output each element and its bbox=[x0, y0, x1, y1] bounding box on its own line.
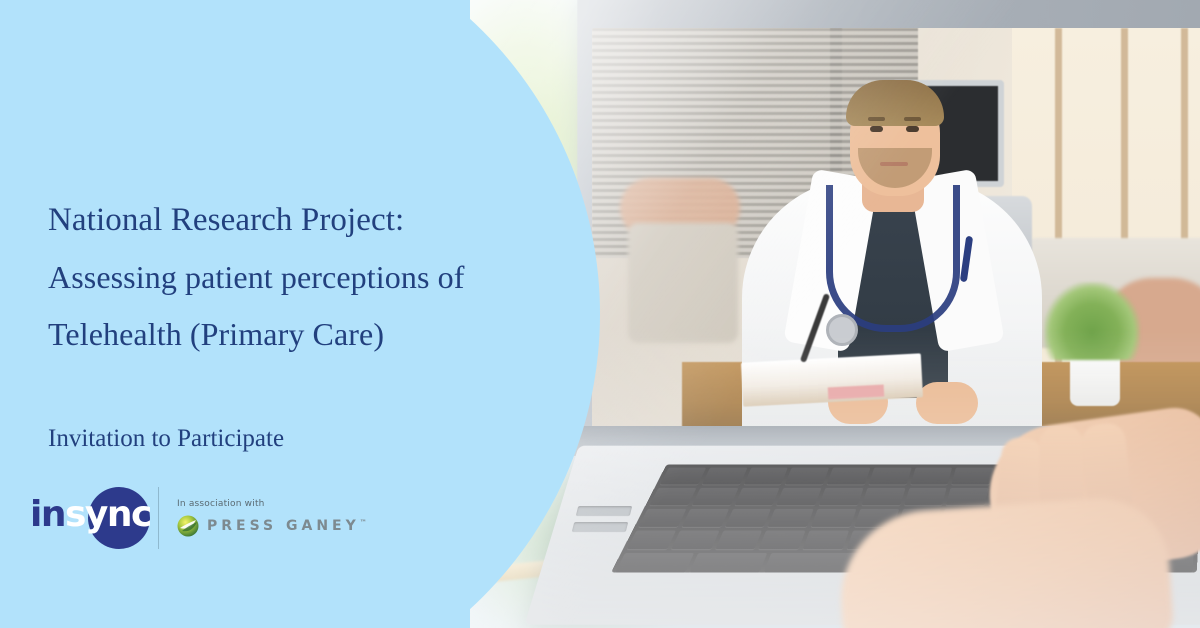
key bbox=[725, 509, 772, 527]
key bbox=[910, 468, 952, 485]
key bbox=[819, 488, 863, 505]
key bbox=[952, 468, 994, 485]
insync-word-sync: sync bbox=[65, 494, 151, 535]
press-ganey-logo: PRESS GANEY™ bbox=[177, 515, 367, 537]
key bbox=[768, 509, 814, 527]
banner-content: National Research Project: Assessing pat… bbox=[0, 0, 560, 628]
page-title: National Research Project: Assessing pat… bbox=[48, 192, 548, 363]
association-block: In association with bbox=[177, 499, 367, 537]
key bbox=[715, 531, 762, 550]
key bbox=[904, 488, 947, 505]
key bbox=[785, 468, 829, 485]
key bbox=[660, 468, 706, 485]
insync-logo: insync bbox=[28, 483, 150, 553]
key bbox=[827, 468, 871, 485]
headline-line-2: Assessing patient perceptions of bbox=[48, 249, 548, 306]
headline-line-3: Telehealth (Primary Care) bbox=[48, 306, 548, 363]
screen-glare bbox=[592, 28, 1200, 428]
key bbox=[682, 509, 729, 527]
press-ganey-trademark: ™ bbox=[360, 518, 367, 526]
key bbox=[868, 468, 911, 485]
key bbox=[759, 531, 806, 550]
key bbox=[734, 488, 780, 505]
laptop-screen bbox=[592, 28, 1200, 428]
key bbox=[946, 488, 989, 505]
port-audio bbox=[572, 522, 628, 532]
laptop-ports bbox=[570, 506, 632, 540]
press-ganey-name: PRESS GANEY bbox=[207, 518, 360, 534]
press-ganey-wordmark: PRESS GANEY™ bbox=[207, 518, 367, 534]
key bbox=[777, 488, 822, 505]
key bbox=[689, 553, 767, 572]
key bbox=[692, 488, 738, 505]
key bbox=[861, 488, 905, 505]
association-kicker: In association with bbox=[177, 499, 367, 509]
key bbox=[743, 468, 788, 485]
key bbox=[649, 488, 696, 505]
insync-word-in: in bbox=[30, 494, 65, 535]
port-usb bbox=[576, 506, 632, 516]
press-ganey-leaf-icon bbox=[177, 515, 199, 537]
headline-line-1: National Research Project: bbox=[48, 192, 548, 249]
key bbox=[615, 553, 694, 572]
key bbox=[638, 509, 686, 527]
key bbox=[803, 531, 849, 550]
invitation-subheading: Invitation to Participate bbox=[48, 425, 284, 453]
key bbox=[811, 509, 856, 527]
logo-lockup: insync In association with bbox=[28, 482, 367, 554]
logo-divider bbox=[158, 487, 159, 549]
key bbox=[671, 531, 719, 550]
key bbox=[627, 531, 676, 550]
key bbox=[702, 468, 747, 485]
insync-wordmark: insync bbox=[30, 497, 151, 533]
telehealth-invitation-banner: National Research Project: Assessing pat… bbox=[0, 0, 1200, 628]
